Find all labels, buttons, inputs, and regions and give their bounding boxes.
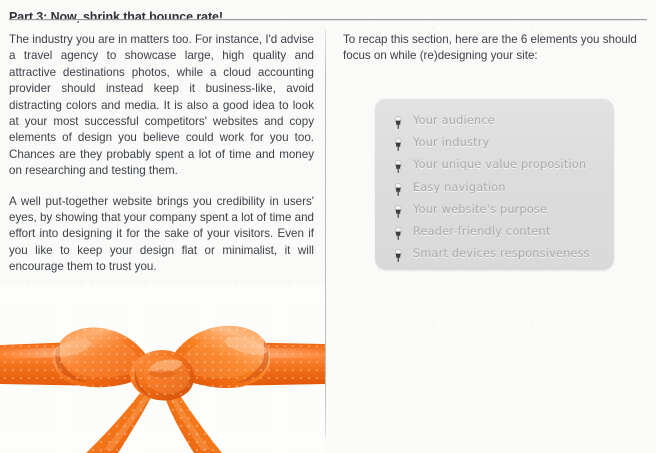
list-item-label: Your unique value proposition [413,158,586,171]
pin-icon [393,204,404,217]
list-item-label: Your industry [413,136,490,149]
orange-ribbon-bow-photo [0,286,325,453]
pin-icon [393,226,404,239]
pin-icon [393,115,404,128]
article-page: Part 3: Now, shrink that bounce rate! Th… [0,0,656,453]
list-item: Easy navigation [413,177,614,199]
list-item-label: Easy navigation [413,181,506,194]
pin-icon [393,248,404,261]
list-item: Reader-friendly content [413,221,614,243]
list-item-label: Reader-friendly content [413,225,551,238]
recap-intro-text: To recap this section, here are the 6 el… [343,32,649,65]
right-column: To recap this section, here are the 6 el… [343,32,649,65]
column-divider [325,30,326,438]
pin-icon [393,182,404,195]
recap-list-box: Your audience Your industry [375,98,614,270]
left-column: The industry you are in matters too. For… [9,32,314,323]
list-item: Your website's purpose [413,199,614,221]
list-item-label: Smart devices responsiveness [413,247,590,260]
page-title: Part 3: Now, shrink that bounce rate! [9,10,647,24]
list-item: Your audience [413,110,614,132]
ribbon-bow-graphic [0,286,325,453]
body-paragraph-2: A well put-together website brings you c… [9,194,314,276]
heading-divider-rule [9,19,647,21]
list-item: Your unique value proposition [413,154,614,176]
list-item-label: Your website's purpose [413,203,547,216]
body-paragraph-1: The industry you are in matters too. For… [9,32,314,180]
list-item: Your industry [413,132,614,154]
list-item-label: Your audience [413,114,495,127]
list-item: Smart devices responsiveness [413,243,614,265]
pin-icon [393,137,404,150]
pin-icon [393,159,404,172]
recap-list: Your audience Your industry [375,110,614,265]
